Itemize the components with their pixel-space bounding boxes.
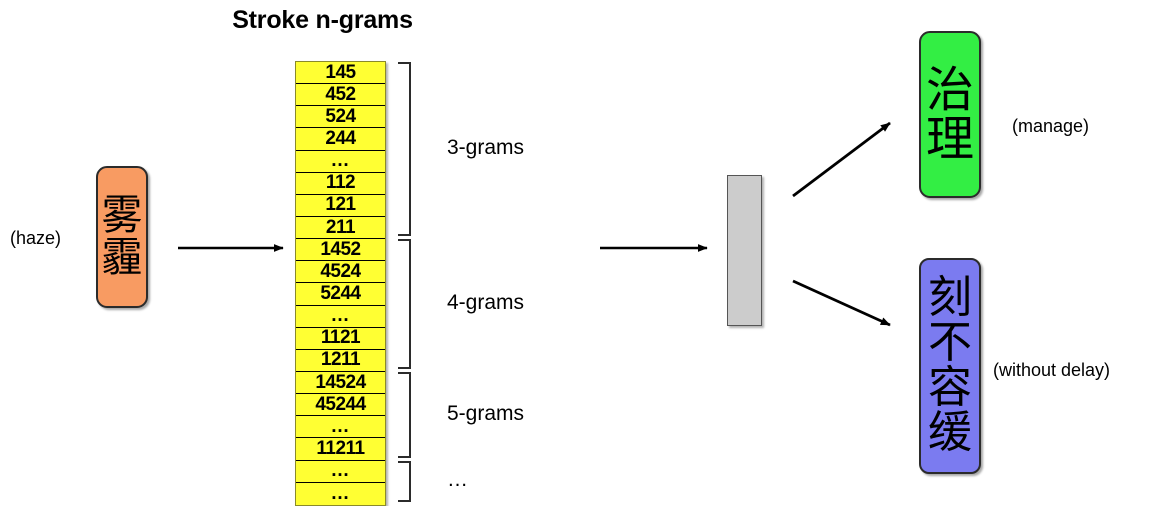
output-manage-char-1: 治 xyxy=(926,66,974,115)
output-delay-char-4: 缓 xyxy=(928,411,972,456)
ngram-group-bracket xyxy=(398,62,411,236)
ngram-group-label: 4-grams xyxy=(447,291,524,315)
hidden-representation-block xyxy=(727,175,762,326)
ngram-group-layer: 3-grams4-grams5-grams… xyxy=(0,0,1174,506)
output-delay-char-1: 刻 xyxy=(928,276,972,321)
ngram-group-label: … xyxy=(447,468,468,492)
output-word-box-manage: 治 理 xyxy=(919,31,981,198)
ngram-group-label: 3-grams xyxy=(447,136,524,160)
ngram-group-bracket xyxy=(398,239,411,369)
ngram-group-bracket xyxy=(398,461,411,502)
ngram-group-bracket xyxy=(398,372,411,458)
output-delay-char-2: 不 xyxy=(928,321,972,366)
output-delay-char-3: 容 xyxy=(928,366,972,411)
output-gloss-manage: (manage) xyxy=(1012,116,1089,137)
output-word-box-delay: 刻 不 容 缓 xyxy=(919,258,981,474)
ngram-group-label: 5-grams xyxy=(447,402,524,426)
output-manage-char-2: 理 xyxy=(926,115,974,164)
output-gloss-delay: (without delay) xyxy=(993,360,1110,381)
diagram-canvas: Stroke n-grams (haze) 雾 霾 145452524244…1… xyxy=(0,0,1174,506)
